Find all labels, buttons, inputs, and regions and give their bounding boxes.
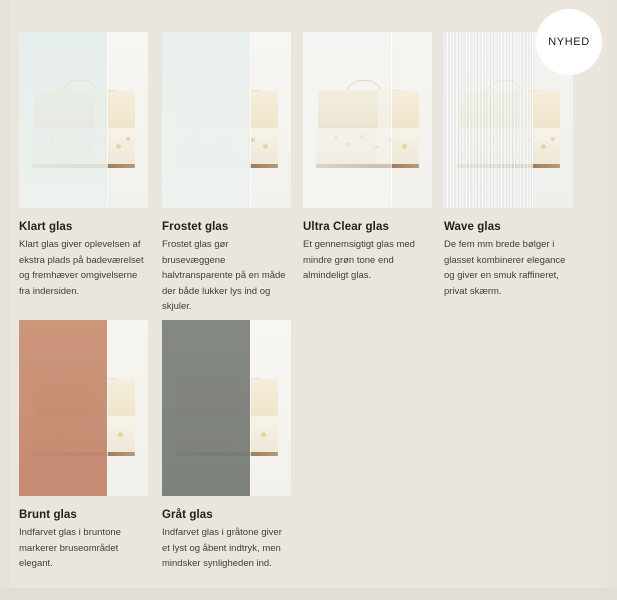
product-image-brunt-glas[interactable]	[19, 320, 148, 496]
page-root: Klart glas Klart glas giver oplevelsen a…	[0, 0, 617, 600]
card-description: De fem mm brede bølger i glasset kombine…	[444, 237, 572, 299]
card-description: Indfarvet glas i bruntone markerer bruse…	[19, 525, 147, 572]
glass-pane-overlay	[444, 32, 532, 208]
soap-speck	[116, 144, 121, 149]
glass-pane-overlay	[162, 32, 250, 208]
card-description: Et gennemsigtigt glas med mindre grøn to…	[303, 237, 431, 284]
soap-speck	[251, 138, 255, 142]
card-title: Klart glas	[19, 220, 147, 234]
glass-card-ultra-clear-glas[interactable]: Ultra Clear glas Et gennemsigtigt glas m…	[303, 32, 432, 284]
soap-speck	[261, 432, 266, 437]
caption-frostet-glas: Frostet glas Frostet glas gør brusevægge…	[162, 220, 290, 315]
glass-pane-edge	[250, 32, 251, 208]
page-bottom-strip	[0, 588, 617, 600]
card-title: Gråt glas	[162, 508, 290, 522]
caption-ultra-clear-glas: Ultra Clear glas Et gennemsigtigt glas m…	[303, 220, 431, 284]
soap-speck	[118, 432, 123, 437]
glass-card-graat-glas[interactable]: Gråt glas Indfarvet glas i gråtone giver…	[162, 320, 291, 572]
soap-speck	[402, 144, 407, 149]
soap-speck	[263, 144, 268, 149]
glass-card-wave-glas[interactable]: Wave glas De fem mm brede bølger i glass…	[444, 32, 573, 299]
caption-brunt-glas: Brunt glas Indfarvet glas i bruntone mar…	[19, 508, 147, 572]
card-description: Klart glas giver oplevelsen af ekstra pl…	[19, 237, 147, 299]
glass-pane-edge	[107, 320, 108, 496]
card-title: Brunt glas	[19, 508, 147, 522]
glass-card-brunt-glas[interactable]: Brunt glas Indfarvet glas i bruntone mar…	[19, 320, 148, 572]
nyhed-badge-label: NYHED	[548, 36, 590, 48]
glass-pane-edge	[532, 32, 533, 208]
product-image-klart-glas[interactable]	[19, 32, 148, 208]
glass-pane-edge	[250, 320, 251, 496]
caption-wave-glas: Wave glas De fem mm brede bølger i glass…	[444, 220, 572, 299]
glass-pane-overlay	[19, 32, 107, 208]
glass-card-frostet-glas[interactable]: Frostet glas Frostet glas gør brusevægge…	[162, 32, 291, 315]
glass-card-klart-glas[interactable]: Klart glas Klart glas giver oplevelsen a…	[19, 32, 148, 299]
card-title: Wave glas	[444, 220, 572, 234]
soap-speck	[551, 137, 555, 141]
caption-klart-glas: Klart glas Klart glas giver oplevelsen a…	[19, 220, 147, 299]
soap-speck	[541, 144, 546, 149]
card-description: Indfarvet glas i gråtone giver et lyst o…	[162, 525, 290, 572]
glass-pane-edge	[391, 32, 392, 208]
glass-pane-edge	[107, 32, 108, 208]
product-image-frostet-glas[interactable]	[162, 32, 291, 208]
card-title: Frostet glas	[162, 220, 290, 234]
nyhed-badge: NYHED	[536, 9, 602, 75]
glass-pane-overlay	[19, 320, 107, 496]
caption-graat-glas: Gråt glas Indfarvet glas i gråtone giver…	[162, 508, 290, 572]
soap-speck	[126, 137, 130, 141]
product-image-ultra-clear-glas[interactable]	[303, 32, 432, 208]
glass-pane-overlay	[303, 32, 391, 208]
glass-pane-overlay	[162, 320, 250, 496]
card-description: Frostet glas gør brusevæggene halvtransp…	[162, 237, 290, 315]
product-image-graat-glas[interactable]	[162, 320, 291, 496]
card-title: Ultra Clear glas	[303, 220, 431, 234]
